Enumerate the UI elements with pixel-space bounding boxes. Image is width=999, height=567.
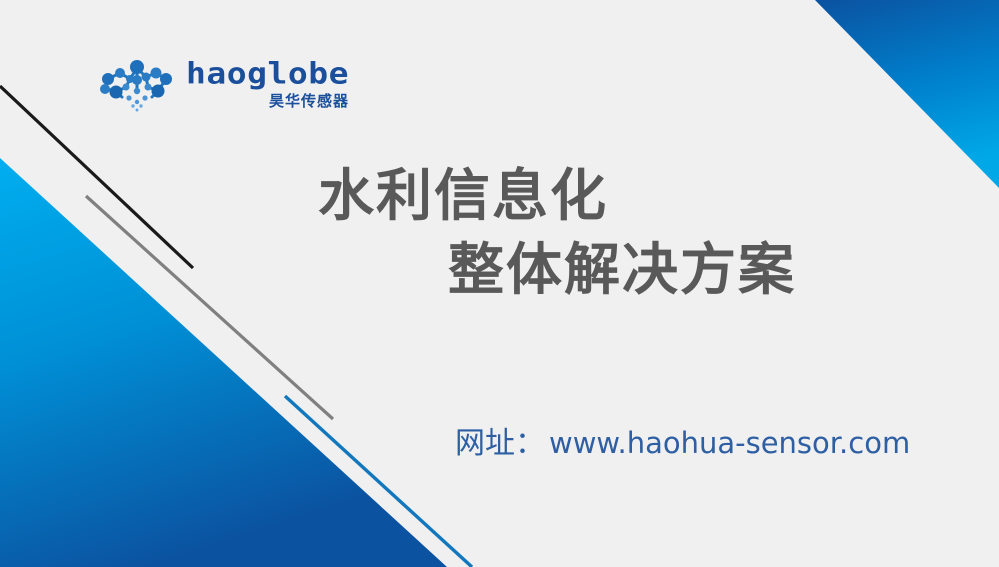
- website-url[interactable]: www.haohua-sensor.com: [549, 426, 910, 460]
- brand-wordmark: haoglobe: [186, 59, 349, 88]
- website-label: 网址：: [455, 418, 545, 462]
- brand-chinese-name: 昊华传感器: [269, 94, 349, 109]
- network-nodes-logo-icon: [96, 57, 178, 113]
- slide-title: 水利信息化 整体解决方案: [0, 160, 999, 308]
- title-line-1: 水利信息化: [0, 160, 999, 234]
- presentation-title-slide: haoglobe 昊华传感器 水利信息化 整体解决方案 网址： www.haoh…: [0, 0, 999, 567]
- brand-wordmark-group: haoglobe 昊华传感器: [186, 57, 349, 109]
- title-line-2: 整体解决方案: [0, 234, 999, 308]
- website-url-row: 网址： www.haohua-sensor.com: [455, 418, 910, 462]
- brand-logo: haoglobe 昊华传感器: [96, 57, 349, 113]
